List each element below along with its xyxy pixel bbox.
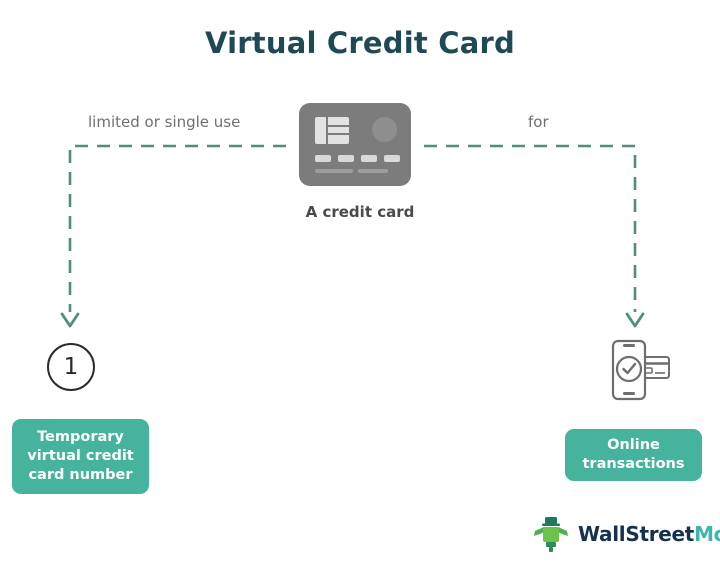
- outcome-line: card number: [28, 466, 132, 485]
- wallstreetmojo-bull-icon: [531, 514, 571, 554]
- page-title: Virtual Credit Card: [0, 26, 720, 60]
- outcome-line: virtual credit: [27, 447, 134, 466]
- logo-text-secondary: Mojo: [694, 522, 720, 546]
- credit-card-icon: [299, 103, 411, 186]
- card-number-groups: [315, 155, 400, 162]
- arrowhead-right-icon: [627, 314, 643, 326]
- card-signature-lines: [315, 169, 388, 173]
- branch-label-left: limited or single use: [88, 113, 240, 131]
- card-chip-icon: [315, 117, 349, 144]
- card-logo-circle-icon: [372, 117, 397, 142]
- logo-text-primary: WallStreet: [578, 522, 694, 546]
- logo-wordmark: WallStreetMojo: [578, 522, 720, 546]
- center-node-caption: A credit card: [0, 203, 720, 221]
- diagram-canvas: Virtual Credit Card limited or single us…: [0, 0, 720, 568]
- connector-left: [70, 146, 286, 312]
- connector-right: [424, 146, 635, 312]
- arrowhead-left-icon: [62, 314, 78, 326]
- outcome-line: Temporary: [37, 428, 124, 447]
- wallstreetmojo-logo: WallStreetMojo: [531, 511, 711, 557]
- outcome-box-temporary-card-number: Temporary virtual credit card number: [12, 419, 149, 494]
- branch-label-right: for: [528, 113, 549, 131]
- outcome-box-online-transactions: Online transactions: [565, 429, 702, 481]
- outcome-line: Online: [607, 436, 660, 455]
- mobile-payment-icon: [607, 337, 673, 403]
- outcome-line: transactions: [582, 455, 684, 474]
- step-number-badge: 1: [47, 343, 95, 391]
